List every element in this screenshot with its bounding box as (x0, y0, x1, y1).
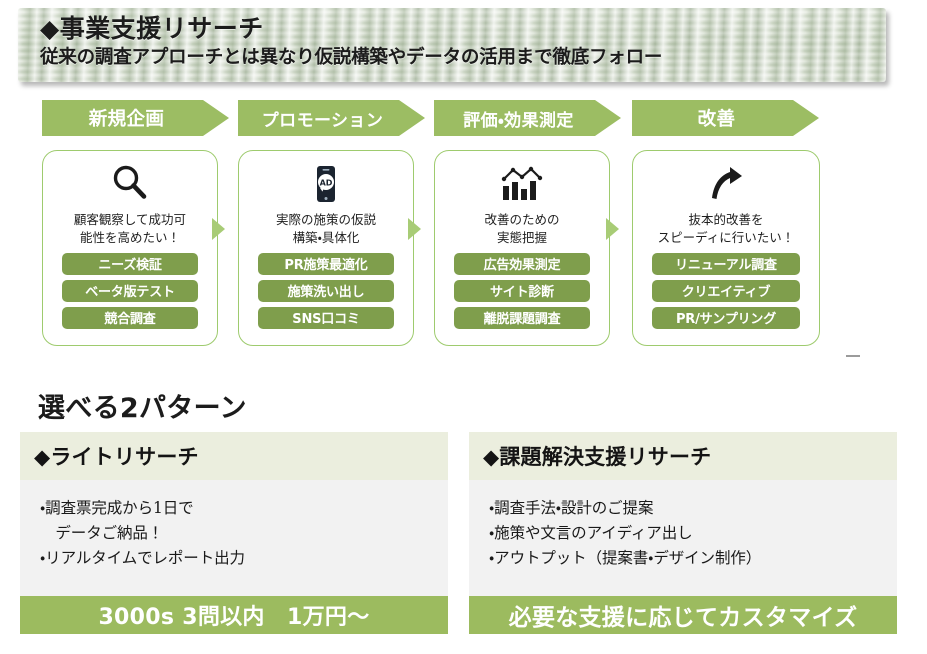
step-desc-2: 実際の施策の仮説 構築・具体化 (276, 211, 376, 247)
step-tags-2: PR施策最適化 施策洗い出し SNS口コミ (239, 253, 413, 329)
magnifier-icon (107, 159, 153, 209)
step-header-2[interactable]: プロモーション (238, 100, 425, 136)
step-header-3[interactable]: 評価・効果測定 (434, 100, 621, 136)
process-flow: 新規企画 顧客観察して成功可 能性を高めたい！ ニーズ検証 ベータ版テスト 競合… (0, 100, 927, 360)
panel-bullet: ・アウトプット（提案書・デザイン制作） (489, 546, 897, 571)
flow-connector-arrow-icon (212, 218, 225, 240)
step-tags-3: 広告効果測定 サイト診断 離脱課題調査 (435, 253, 609, 329)
up-arrow-icon (703, 159, 749, 209)
smartphone-ad-icon: AD (303, 159, 349, 209)
step-card-1: 顧客観察して成功可 能性を高めたい！ ニーズ検証 ベータ版テスト 競合調査 (42, 150, 218, 346)
panel-bullet: ・調査手法・設計のご提案 (489, 496, 897, 521)
header-banner: ◆事業支援リサーチ 従来の調査アプローチとは異なり仮説構築やデータの活用まで徹底… (18, 8, 886, 82)
step-desc-3: 改善のための 実態把握 (484, 211, 559, 247)
tag-item[interactable]: SNS口コミ (258, 307, 394, 329)
step-card-4: 抜本的改善を スピーディに行いたい！ リニューアル調査 クリエイティブ PR/サ… (632, 150, 820, 346)
panel-body: ・調査手法・設計のご提案 ・施策や文言のアイディア出し ・アウトプット（提案書・… (469, 480, 897, 596)
panel-price-footer: 必要な支援に応じてカスタマイズ (469, 596, 897, 634)
stray-dash-mark (846, 355, 860, 357)
tag-item[interactable]: ニーズ検証 (62, 253, 198, 275)
step-tags-1: ニーズ検証 ベータ版テスト 競合調査 (43, 253, 217, 329)
step-header-1[interactable]: 新規企画 (42, 100, 229, 136)
tag-item[interactable]: サイト診断 (454, 280, 590, 302)
panel-bullet: ・調査票完成から1日で データご納品！ (40, 496, 448, 546)
step-card-2: AD 実際の施策の仮説 構築・具体化 PR施策最適化 施策洗い出し SNS口コミ (238, 150, 414, 346)
pattern-panel-light-research: ◆ライトリサーチ ・調査票完成から1日で データご納品！ ・リアルタイムでレポー… (20, 432, 448, 634)
flow-step-3: 評価・効果測定 改善のための 実態把握 広告効果測定 (434, 100, 621, 346)
bar-chart-icon (497, 159, 547, 209)
flow-step-1: 新規企画 顧客観察して成功可 能性を高めたい！ ニーズ検証 ベータ版テスト 競合… (42, 100, 229, 346)
tag-item[interactable]: PR/サンプリング (652, 307, 800, 329)
svg-text:AD: AD (320, 178, 333, 187)
section-title: 選べる2パターン (38, 386, 247, 425)
step-header-4[interactable]: 改善 (632, 100, 819, 136)
panel-bullet: ・施策や文言のアイディア出し (489, 521, 897, 546)
pattern-panel-problem-solving-research: ◆課題解決支援リサーチ ・調査手法・設計のご提案 ・施策や文言のアイディア出し … (469, 432, 897, 634)
tag-item[interactable]: リニューアル調査 (652, 253, 800, 275)
tag-item[interactable]: 広告効果測定 (454, 253, 590, 275)
step-card-3: 改善のための 実態把握 広告効果測定 サイト診断 離脱課題調査 (434, 150, 610, 346)
tag-item[interactable]: 競合調査 (62, 307, 198, 329)
flow-connector-arrow-icon (606, 218, 619, 240)
flow-step-4: 改善 抜本的改善を スピーディに行いたい！ リニューアル調査 クリエイティブ P… (632, 100, 819, 346)
header-banner-inner: ◆事業支援リサーチ 従来の調査アプローチとは異なり仮説構築やデータの活用まで徹底… (18, 8, 886, 69)
panel-price-footer: 3000s 3問以内 1万円〜 (20, 596, 448, 634)
tag-item[interactable]: PR施策最適化 (258, 253, 394, 275)
flow-step-2: プロモーション AD 実際の施策の仮説 構築・具体化 PR施策最適化 施策洗い出… (238, 100, 425, 346)
panel-title: ◆ライトリサーチ (20, 432, 448, 480)
tag-item[interactable]: ベータ版テスト (62, 280, 198, 302)
tag-item[interactable]: クリエイティブ (652, 280, 800, 302)
panel-bullet: ・リアルタイムでレポート出力 (40, 546, 448, 571)
flow-connector-arrow-icon (408, 218, 421, 240)
tag-item[interactable]: 施策洗い出し (258, 280, 394, 302)
step-desc-1: 顧客観察して成功可 能性を高めたい！ (74, 211, 186, 247)
page-subtitle: 従来の調査アプローチとは異なり仮説構築やデータの活用まで徹底フォロー (40, 47, 886, 69)
page-title: ◆事業支援リサーチ (40, 14, 886, 44)
step-tags-4: リニューアル調査 クリエイティブ PR/サンプリング (633, 253, 819, 329)
panel-body: ・調査票完成から1日で データご納品！ ・リアルタイムでレポート出力 (20, 480, 448, 596)
step-desc-4: 抜本的改善を スピーディに行いたい！ (658, 211, 795, 247)
panel-title: ◆課題解決支援リサーチ (469, 432, 897, 480)
tag-item[interactable]: 離脱課題調査 (454, 307, 590, 329)
